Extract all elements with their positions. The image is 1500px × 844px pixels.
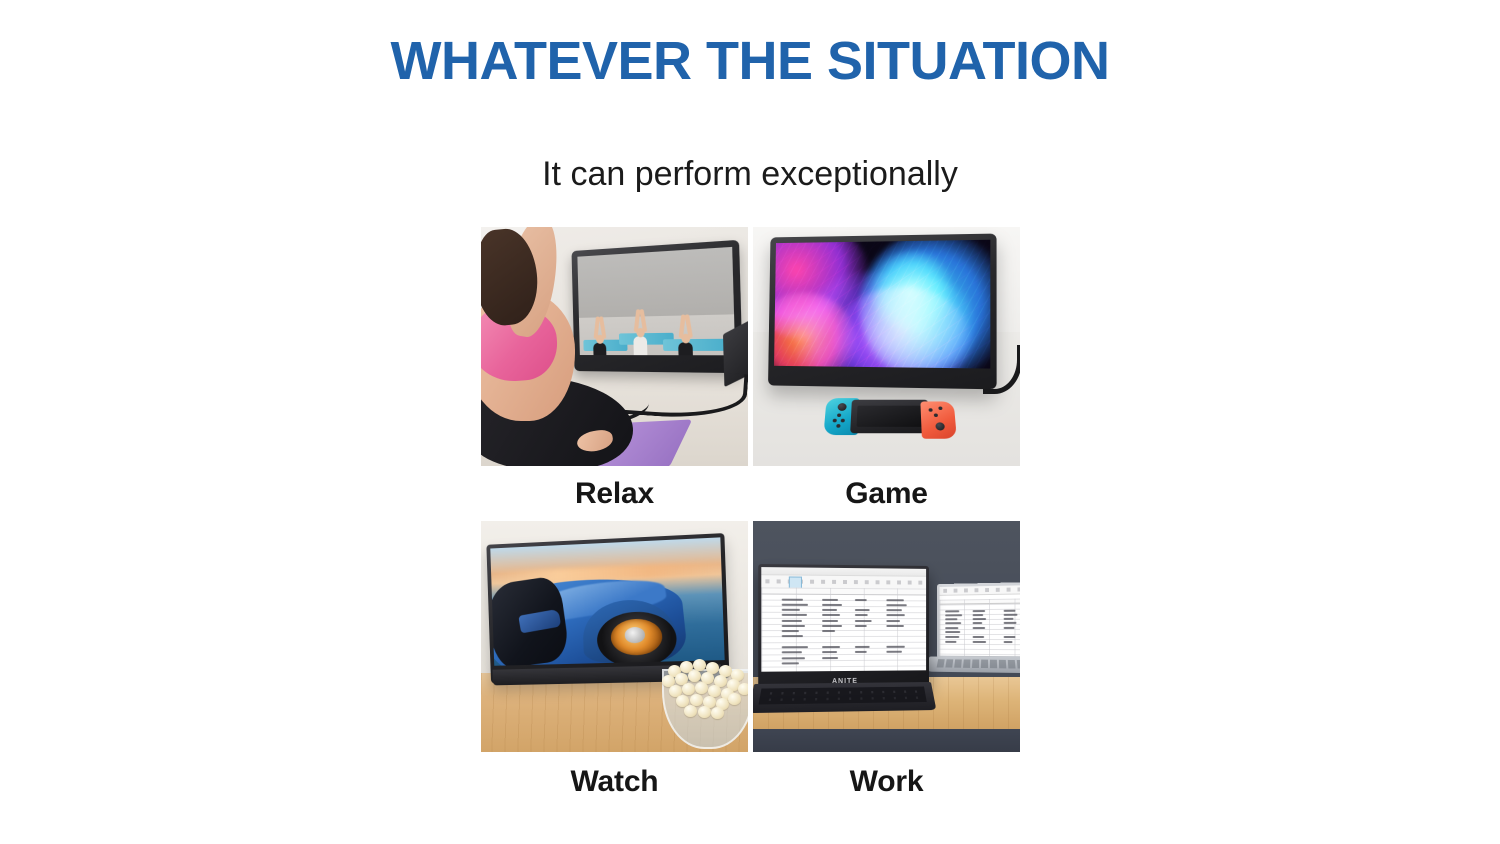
scenario-label-relax: Relax xyxy=(481,466,748,521)
scenario-label-game: Game xyxy=(753,466,1020,521)
spreadsheet-ribbon xyxy=(940,585,1020,596)
secondary-laptop xyxy=(937,582,1020,688)
relax-scene-image xyxy=(481,227,748,466)
portable-monitor-work: ANITE xyxy=(758,564,929,688)
analog-stick xyxy=(935,422,945,430)
spreadsheet xyxy=(761,567,926,672)
analog-stick xyxy=(837,403,846,411)
scenario-card-relax[interactable]: Relax xyxy=(481,227,748,521)
work-scene-image: ANITE xyxy=(753,521,1020,752)
monitor-keyboard xyxy=(753,682,936,713)
console-screen xyxy=(850,400,930,433)
scenario-card-work[interactable]: ANITE Work xyxy=(753,521,1020,803)
yoga-mat xyxy=(663,339,728,351)
handheld-game-console xyxy=(823,398,956,437)
game-scene-image xyxy=(753,227,1020,466)
portable-monitor-relax xyxy=(571,240,742,373)
spreadsheet xyxy=(940,585,1020,656)
scenario-label-watch: Watch xyxy=(481,752,748,803)
monitor-screen-movie xyxy=(490,537,724,665)
desk-front-panel xyxy=(753,729,1020,752)
joycon-right-red xyxy=(920,401,957,438)
scenario-card-game[interactable]: Game xyxy=(753,227,1020,521)
monitor-screen-spreadsheet xyxy=(761,567,926,672)
page-subtitle: It can perform exceptionally xyxy=(0,154,1500,194)
swirl-striations xyxy=(774,240,990,369)
laptop-lid xyxy=(937,582,1020,660)
watch-scene-image xyxy=(481,521,748,752)
portable-monitor-game xyxy=(768,234,997,390)
monitor-bezel xyxy=(571,240,742,373)
monitor-screen-wallpaper xyxy=(774,240,990,369)
scenario-label-work: Work xyxy=(753,752,1020,803)
laptop-keyboard xyxy=(926,656,1020,673)
scenario-grid: Relax xyxy=(481,227,1020,803)
scenario-card-watch[interactable]: Watch xyxy=(481,521,748,803)
laptop-screen-spreadsheet xyxy=(940,585,1020,656)
monitor-bezel: ANITE xyxy=(758,564,929,688)
monitor-bezel xyxy=(768,234,997,390)
product-feature-banner: WHATEVER THE SITUATION It can perform ex… xyxy=(0,0,1500,844)
page-title: WHATEVER THE SITUATION xyxy=(0,32,1500,90)
monitor-screen-yoga xyxy=(577,247,735,355)
